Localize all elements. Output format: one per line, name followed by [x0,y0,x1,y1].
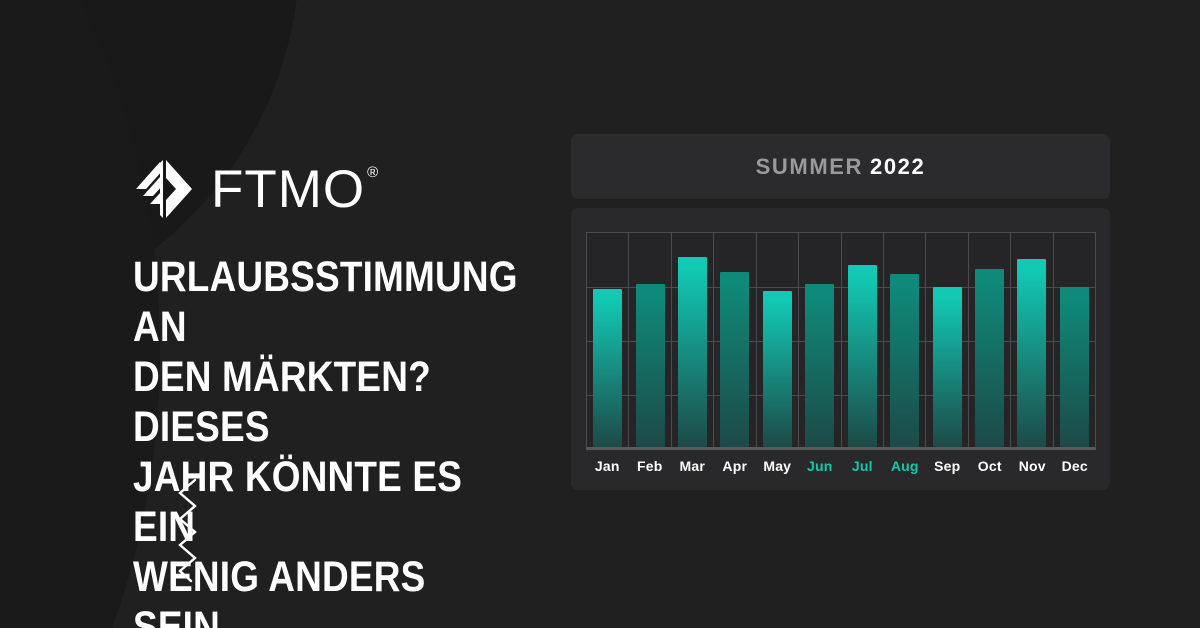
chart-bar[interactable] [593,289,622,447]
chart-column [1011,233,1053,447]
chart-column [926,233,968,447]
chart-x-label-mar: Mar [671,458,714,474]
chart-x-label-aug: Aug [884,458,927,474]
zigzag-line-icon [173,478,203,589]
chart-bar[interactable] [720,272,749,447]
chart-title-season: SUMMER [756,154,863,179]
left-content-column: FTMO ® URLAUBSSTIMMUNG AN DEN MÄRKTEN? D… [133,0,553,628]
chart-x-label-sep: Sep [926,458,969,474]
chart-bar[interactable] [1060,287,1089,448]
headline-line: URLAUBSSTIMMUNG AN [133,252,494,352]
chart-bar[interactable] [933,287,962,448]
chart-column [629,233,671,447]
ftmo-diamond-chevron-logo-icon [133,160,193,218]
chart-x-label-apr: Apr [714,458,757,474]
headline-line: DEN MÄRKTEN? DIESES [133,352,494,452]
chart-column [842,233,884,447]
chart-bar[interactable] [975,269,1004,447]
chart-x-label-may: May [756,458,799,474]
chart-column [884,233,926,447]
chart-x-label-jan: Jan [586,458,629,474]
chart-x-label-jul: Jul [841,458,884,474]
chart-column [969,233,1011,447]
chart-x-label-oct: Oct [969,458,1012,474]
chart-x-label-jun: Jun [799,458,842,474]
chart-column [1054,233,1095,447]
chart-x-axis-labels: JanFebMarAprMayJunJulAugSepOctNovDec [586,458,1096,474]
chart-column [799,233,841,447]
chart-column [587,233,629,447]
chart-bar[interactable] [636,284,665,447]
chart-column [757,233,799,447]
chart-title-year: 2022 [870,154,925,179]
chart-bar[interactable] [805,284,834,447]
chart-x-label-dec: Dec [1054,458,1097,474]
chart-header-card: SUMMER2022 [571,134,1110,199]
chart-bar[interactable] [678,257,707,447]
chart-title: SUMMER2022 [756,154,926,180]
chart-bar[interactable] [1017,259,1046,447]
chart-column [714,233,756,447]
poster-canvas: FTMO ® URLAUBSSTIMMUNG AN DEN MÄRKTEN? D… [0,0,1200,628]
chart-x-label-nov: Nov [1011,458,1054,474]
chart-column [672,233,714,447]
chart-card: JanFebMarAprMayJunJulAugSepOctNovDec [571,208,1110,490]
chart-bar[interactable] [890,274,919,447]
ftmo-wordmark-text: FTMO [211,163,365,216]
registered-trademark-symbol: ® [367,165,378,180]
ftmo-logo[interactable]: FTMO ® [133,160,378,218]
chart-bar[interactable] [763,291,792,447]
ftmo-wordmark: FTMO ® [211,163,378,216]
chart-bar[interactable] [848,265,877,447]
chart-plot-area [586,232,1096,450]
chart-x-label-feb: Feb [629,458,672,474]
